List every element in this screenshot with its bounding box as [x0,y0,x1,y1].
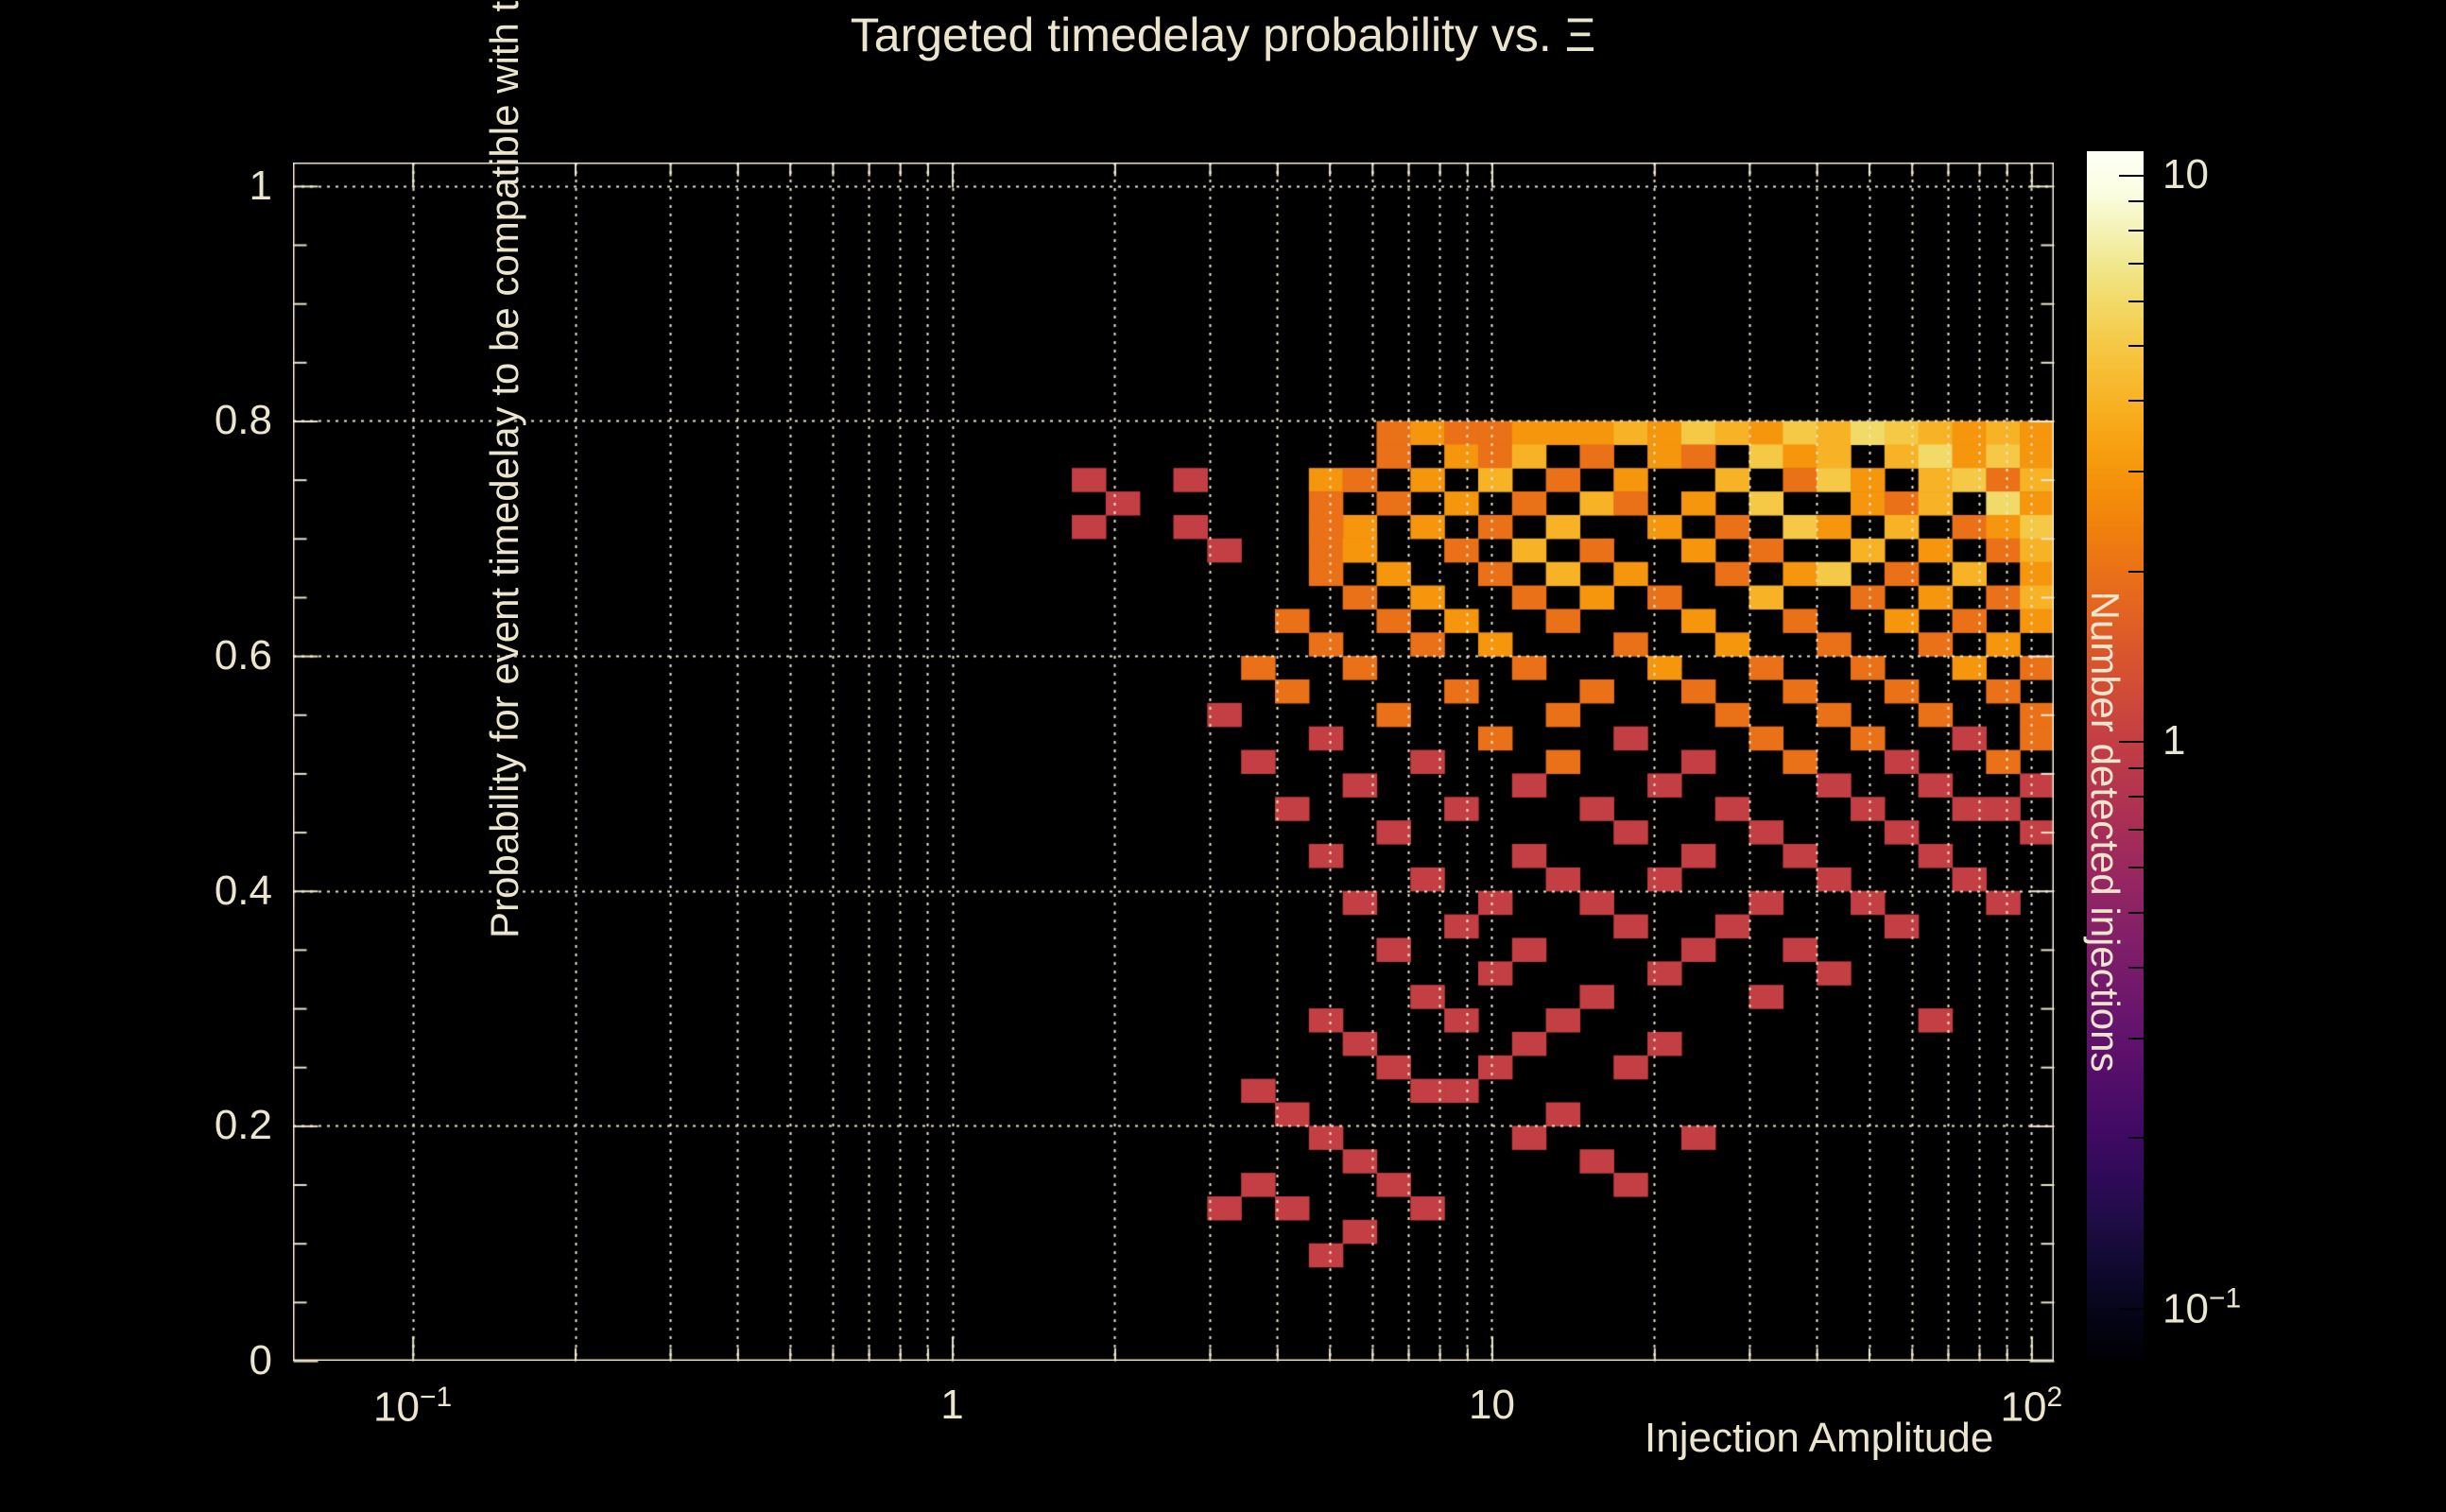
x-tick-label: 102 [2001,1382,2063,1432]
colorbar-tick [2128,1137,2144,1139]
colorbar-tick [2128,829,2144,831]
colorbar-tick-mantissa: 1 [2162,717,2185,764]
x-tick-exponent: −1 [420,1382,452,1413]
colorbar-tick-label: 10−1 [2162,1283,2241,1333]
x-tick-mantissa: 10 [2001,1384,2047,1431]
colorbar-tick-label: 1 [2162,717,2185,765]
colorbar-tick [2128,912,2144,914]
x-tick-label: 10−1 [373,1382,452,1432]
colorbar-tick [2128,1038,2144,1039]
colorbar-tick [2128,571,2144,573]
x-axis-label: Injection Amplitude [1645,1417,1993,1459]
colorbar-tick-label: 10 [2162,151,2209,198]
colorbar-tick [2119,175,2144,177]
y-tick-label: 1 [250,163,272,210]
y-tick-label: 0.4 [215,868,272,915]
x-tick-label: 10 [1469,1382,1515,1429]
plot-root: Targeted timedelay probability vs. Ξ 00.… [0,0,2446,1512]
colorbar-tick [2128,263,2144,265]
y-tick-label: 0 [250,1337,272,1384]
colorbar-title: Number detected injections [2085,397,2125,1266]
colorbar-tick [2128,867,2144,868]
x-tick-mantissa: 10 [373,1384,420,1431]
colorbar-tick [2128,200,2144,202]
x-tick-mantissa: 10 [1469,1382,1515,1428]
colorbar-tick [2128,400,2144,402]
colorbar-tick [2128,796,2144,798]
y-tick-label: 0.6 [215,632,272,679]
colorbar-tick-mantissa: 10 [2162,151,2209,198]
colorbar-tick [2128,301,2144,302]
x-tick-exponent: 2 [2046,1382,2062,1413]
colorbar-tick [2128,967,2144,969]
page-title: Targeted timedelay probability vs. Ξ [0,11,2446,59]
colorbar-tick [2119,1308,2144,1310]
x-tick-label: 1 [940,1382,963,1429]
colorbar-tick-mantissa: 10 [2162,1285,2209,1332]
colorbar-tick [2128,767,2144,769]
y-axis-ticks: 00.20.40.60.81 [113,163,272,1361]
colorbar-tick [2128,230,2144,232]
x-tick-mantissa: 1 [940,1382,963,1428]
y-axis-label: Probability for event timedelay to be co… [485,69,525,938]
y-tick-label: 0.8 [215,397,272,444]
colorbar-tick [2128,471,2144,472]
y-tick-label: 0.2 [215,1102,272,1149]
colorbar-tick [2128,345,2144,347]
colorbar-tick-exponent: −1 [2209,1283,2241,1314]
